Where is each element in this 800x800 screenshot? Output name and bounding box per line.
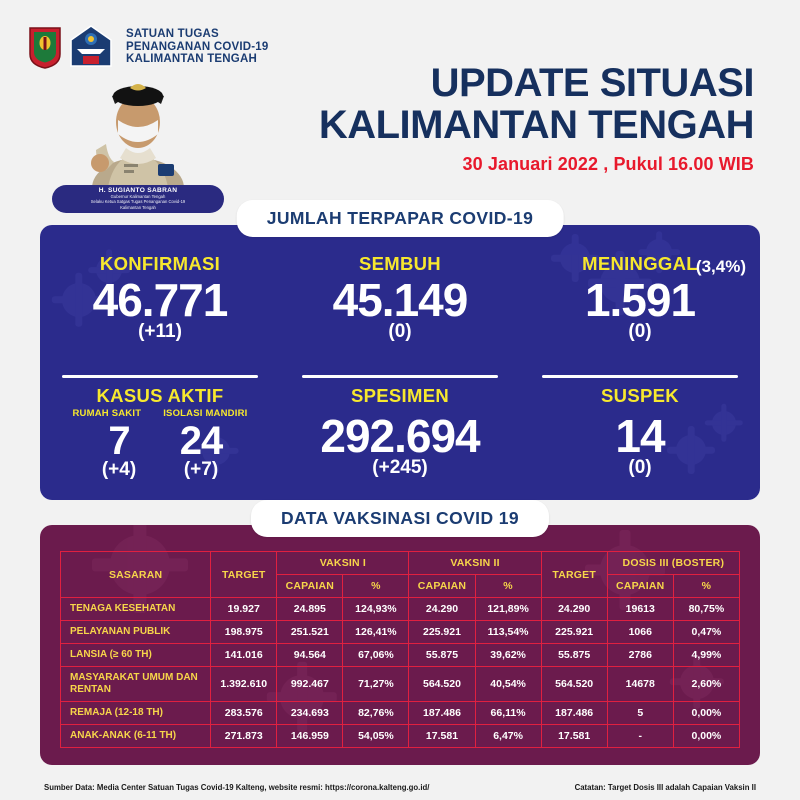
page-footer: Sumber Data: Media Center Satuan Tugas C… <box>0 783 800 792</box>
cell-sasaran: PELAYANAN PUBLIK <box>61 621 211 644</box>
cell-v1-persen: 126,41% <box>343 621 409 644</box>
stat-value: 24 <box>170 419 232 463</box>
stat-konfirmasi: KONFIRMASI 46.771 (+11) <box>40 253 280 375</box>
col-header-d3-capaian: CAPAIAN <box>607 575 673 598</box>
cell-target-2: 187.486 <box>541 702 607 725</box>
stat-value: 1.591 <box>520 275 760 325</box>
cell-v2-capaian: 24.290 <box>409 598 475 621</box>
cell-v1-capaian: 24.895 <box>277 598 343 621</box>
stat-label: SPESIMEN <box>280 385 520 407</box>
col-header-sasaran: SASARAN <box>61 552 211 598</box>
cell-v1-persen: 67,06% <box>343 644 409 667</box>
cell-sasaran: TENAGA KESEHATAN <box>61 598 211 621</box>
table-row: ANAK-ANAK (6-11 TH)271.873146.95954,05%1… <box>61 725 740 748</box>
cell-target-2: 17.581 <box>541 725 607 748</box>
page-title: UPDATE SITUASI KALIMANTAN TENGAH 30 Janu… <box>319 62 754 175</box>
cell-target-1: 271.873 <box>211 725 277 748</box>
cell-target-2: 24.290 <box>541 598 607 621</box>
stat-sembuh: SEMBUH 45.149 (0) <box>280 253 520 375</box>
footer-source: Sumber Data: Media Center Satuan Tugas C… <box>44 783 429 792</box>
cell-target-2: 225.921 <box>541 621 607 644</box>
title-line-1: UPDATE SITUASI <box>319 62 754 104</box>
stat-value: 46.771 <box>40 275 280 325</box>
stat-label: KONFIRMASI <box>40 253 280 275</box>
sublabel-rumah-sakit: RUMAH SAKIT <box>73 408 142 419</box>
stats-panel: KONFIRMASI 46.771 (+11) SEMBUH 45.149 (0… <box>40 225 760 500</box>
governor-title-3: Kalimantan Tengah <box>52 205 224 210</box>
cell-d3-capaian: 1066 <box>607 621 673 644</box>
cell-sasaran: REMAJA (12-18 TH) <box>61 702 211 725</box>
stat-kasus-aktif: KASUS AKTIF RUMAH SAKIT ISOLASI MANDIRI … <box>40 385 280 500</box>
stats-row-primary: KONFIRMASI 46.771 (+11) SEMBUH 45.149 (0… <box>40 225 760 375</box>
table-row: MASYARAKAT UMUM DAN RENTAN1.392.610992.4… <box>61 667 740 702</box>
col-header-d3-persen: % <box>673 575 739 598</box>
stat-delta: (0) <box>520 457 760 479</box>
cell-target-1: 198.975 <box>211 621 277 644</box>
kalteng-emblem-icon <box>28 25 62 69</box>
cell-v2-persen: 121,89% <box>475 598 541 621</box>
col-header-v2-persen: % <box>475 575 541 598</box>
cell-d3-persen: 80,75% <box>673 598 739 621</box>
stat-suspek: SUSPEK 14 (0) <box>520 385 760 500</box>
stat-delta: (0) <box>280 321 520 343</box>
vaccination-panel: SASARAN TARGET VAKSIN I VAKSIN II TARGET… <box>40 525 760 765</box>
cell-target-1: 283.576 <box>211 702 277 725</box>
stat-delta: (+11) <box>40 321 280 343</box>
cell-sasaran: LANSIA (≥ 60 TH) <box>61 644 211 667</box>
cell-d3-capaian: 2786 <box>607 644 673 667</box>
cell-v1-capaian: 94.564 <box>277 644 343 667</box>
col-header-vaksin-2: VAKSIN II <box>409 552 541 575</box>
cell-d3-capaian: 14678 <box>607 667 673 702</box>
cell-v1-capaian: 251.521 <box>277 621 343 644</box>
col-header-vaksin-1: VAKSIN I <box>277 552 409 575</box>
table-header-row-1: SASARAN TARGET VAKSIN I VAKSIN II TARGET… <box>61 552 740 575</box>
table-row: TENAGA KESEHATAN19.92724.895124,93%24.29… <box>61 598 740 621</box>
cell-v1-capaian: 992.467 <box>277 667 343 702</box>
vaccination-section-badge: DATA VAKSINASI COVID 19 <box>251 500 549 537</box>
governor-portrait <box>62 60 212 205</box>
table-row: REMAJA (12-18 TH)283.576234.69382,76%187… <box>61 702 740 725</box>
kasus-aktif-sublabels: RUMAH SAKIT ISOLASI MANDIRI <box>40 408 280 419</box>
cell-v1-persen: 82,76% <box>343 702 409 725</box>
cell-d3-persen: 0,47% <box>673 621 739 644</box>
cell-sasaran: ANAK-ANAK (6-11 TH) <box>61 725 211 748</box>
cell-target-2: 564.520 <box>541 667 607 702</box>
sublabel-isolasi-mandiri: ISOLASI MANDIRI <box>163 408 247 419</box>
cell-target-1: 1.392.610 <box>211 667 277 702</box>
stat-spesimen: SPESIMEN 292.694 (+245) <box>280 385 520 500</box>
stat-percent: (3,4%) <box>696 257 746 277</box>
cell-v2-persen: 39,62% <box>475 644 541 667</box>
col-header-dosis-3: DOSIS III (BOSTER) <box>607 552 739 575</box>
stats-row-secondary: KASUS AKTIF RUMAH SAKIT ISOLASI MANDIRI … <box>40 375 760 500</box>
cell-d3-persen: 0,00% <box>673 702 739 725</box>
cell-d3-capaian: 19613 <box>607 598 673 621</box>
cell-v2-persen: 66,11% <box>475 702 541 725</box>
stat-isolasi-mandiri: 24 (+7) <box>170 419 232 481</box>
stat-value: 292.694 <box>280 411 520 461</box>
cell-v2-capaian: 187.486 <box>409 702 475 725</box>
col-header-target-2: TARGET <box>541 552 607 598</box>
col-header-v2-capaian: CAPAIAN <box>409 575 475 598</box>
table-row: PELAYANAN PUBLIK198.975251.521126,41%225… <box>61 621 740 644</box>
cell-v1-persen: 71,27% <box>343 667 409 702</box>
title-line-2: KALIMANTAN TENGAH <box>319 104 754 146</box>
cell-target-1: 19.927 <box>211 598 277 621</box>
vaccination-table-body: TENAGA KESEHATAN19.92724.895124,93%24.29… <box>61 598 740 748</box>
cell-v1-persen: 54,05% <box>343 725 409 748</box>
vaccination-table: SASARAN TARGET VAKSIN I VAKSIN II TARGET… <box>60 551 740 748</box>
stats-section-badge: JUMLAH TERPAPAR COVID-19 <box>237 200 564 237</box>
stat-value: 45.149 <box>280 275 520 325</box>
report-datetime: 30 Januari 2022 , Pukul 16.00 WIB <box>319 154 754 175</box>
cell-v2-capaian: 17.581 <box>409 725 475 748</box>
cell-d3-persen: 2,60% <box>673 667 739 702</box>
stat-meninggal: MENINGGAL (3,4%) 1.591 (0) <box>520 253 760 375</box>
col-header-v1-persen: % <box>343 575 409 598</box>
cell-d3-capaian: 5 <box>607 702 673 725</box>
cell-v2-persen: 113,54% <box>475 621 541 644</box>
governor-name: H. SUGIANTO SABRAN <box>52 187 224 194</box>
stat-delta: (+245) <box>280 457 520 479</box>
nameplate: H. SUGIANTO SABRAN Gubernur Kalimantan T… <box>52 185 224 213</box>
stat-value: 7 <box>88 419 150 463</box>
org-line-2: PENANGANAN COVID-19 <box>126 41 268 54</box>
cell-v2-capaian: 564.520 <box>409 667 475 702</box>
stat-delta: (0) <box>520 321 760 343</box>
stat-rumah-sakit: 7 (+4) <box>88 419 150 481</box>
cell-d3-capaian: - <box>607 725 673 748</box>
stat-value: 14 <box>520 411 760 461</box>
stat-label: SUSPEK <box>520 385 760 407</box>
cell-v2-capaian: 55.875 <box>409 644 475 667</box>
cell-v1-capaian: 146.959 <box>277 725 343 748</box>
cell-d3-persen: 0,00% <box>673 725 739 748</box>
stat-label: KASUS AKTIF <box>40 385 280 407</box>
cell-target-1: 141.016 <box>211 644 277 667</box>
stat-delta: (+4) <box>88 459 150 481</box>
cell-d3-persen: 4,99% <box>673 644 739 667</box>
stat-label: SEMBUH <box>280 253 520 275</box>
kasus-aktif-values: 7 (+4) 24 (+7) <box>40 419 280 481</box>
cell-v2-capaian: 225.921 <box>409 621 475 644</box>
col-header-v1-capaian: CAPAIAN <box>277 575 343 598</box>
cell-v1-capaian: 234.693 <box>277 702 343 725</box>
cell-v2-persen: 6,47% <box>475 725 541 748</box>
cell-sasaran: MASYARAKAT UMUM DAN RENTAN <box>61 667 211 702</box>
page-header: SATUAN TUGAS PENANGANAN COVID-19 KALIMAN… <box>0 0 800 196</box>
footer-note: Catatan: Target Dosis III adalah Capaian… <box>575 783 756 792</box>
cell-v2-persen: 40,54% <box>475 667 541 702</box>
org-line-1: SATUAN TUGAS <box>126 28 268 41</box>
col-header-target-1: TARGET <box>211 552 277 598</box>
cell-target-2: 55.875 <box>541 644 607 667</box>
cell-v1-persen: 124,93% <box>343 598 409 621</box>
table-row: LANSIA (≥ 60 TH)141.01694.56467,06%55.87… <box>61 644 740 667</box>
